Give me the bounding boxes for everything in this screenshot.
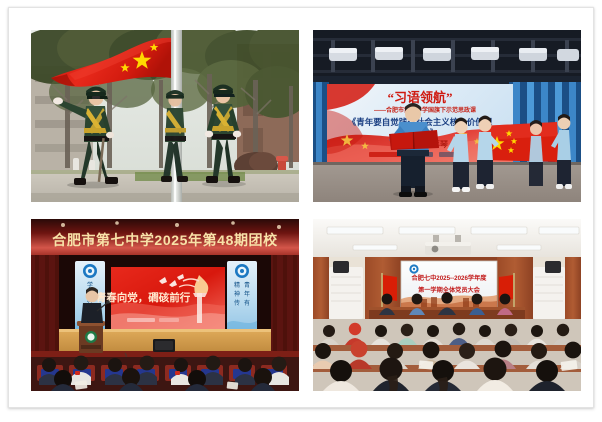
league-school-illustration: 合肥市第七中学2025年第48期团校 — [31, 219, 299, 391]
svg-text:精: 精 — [234, 281, 240, 289]
party-meeting-illustration: 合肥七中2025--2026学年度 第一学期全体党员大会 — [313, 219, 581, 391]
projection-line1: 合肥七中2025--2026学年度 — [412, 274, 488, 282]
roll-up-banner-right: 精 神 传 青 年 有 — [227, 261, 257, 337]
led-title: “习语领航” — [387, 90, 452, 105]
student-far-right — [529, 120, 543, 186]
svg-text:年: 年 — [244, 290, 250, 298]
flag-raising-illustration — [31, 30, 299, 202]
stage-led-screen: 青春向党，磵硋前行 — [96, 267, 225, 329]
photo-xi-language-navigation: “习语领航” ——合肥市第七中学国旗下示范思政课 《青年要自觉践行社会主义核心价… — [313, 30, 581, 202]
auditorium-banner-text: 合肥市第七中学2025年第48期团校 — [52, 232, 278, 248]
stage-screen-text: 青春向党，磵硋前行 — [96, 291, 191, 304]
photo-cell-youth-league-school[interactable]: 合肥市第七中学2025年第48期团校 — [31, 219, 299, 391]
photo-cell-xi-language-navigation[interactable]: “习语领航” ——合肥市第七中学国旗下示范思政课 《青年要自觉践行社会主义核心价… — [313, 30, 581, 202]
collage-card: “习语领航” ——合肥市第七中学国旗下示范思政课 《青年要自觉践行社会主义核心价… — [8, 7, 594, 408]
photo-youth-league-school: 合肥市第七中学2025年第48期团校 — [31, 219, 299, 391]
wall-speaker-left — [333, 261, 349, 273]
page-root: “习语领航” ——合肥市第七中学国旗下示范思政课 《青年要自觉践行社会主义核心价… — [0, 0, 602, 422]
svg-text:传: 传 — [234, 299, 240, 307]
photo-cell-flag-raising[interactable] — [31, 30, 299, 202]
photo-grid: “习语领航” ——合肥市第七中学国旗下示范思政课 《青年要自觉践行社会主义核心价… — [23, 23, 581, 395]
photo-flag-raising — [31, 30, 299, 202]
photo-party-member-meeting: 合肥七中2025--2026学年度 第一学期全体党员大会 — [313, 219, 581, 391]
svg-text:青: 青 — [244, 281, 250, 289]
led-subtitle: ——合肥市第七中学国旗下示范思政课 — [374, 106, 477, 114]
svg-text:有: 有 — [244, 299, 250, 307]
wall-speaker-right — [545, 261, 561, 273]
photo-cell-party-member-meeting[interactable]: 合肥七中2025--2026学年度 第一学期全体党员大会 — [313, 219, 581, 391]
svg-text:神: 神 — [234, 290, 240, 298]
studio-class-illustration: “习语领航” ——合肥市第七中学国旗下示范思政课 《青年要自觉践行社会主义核心价… — [313, 30, 581, 202]
